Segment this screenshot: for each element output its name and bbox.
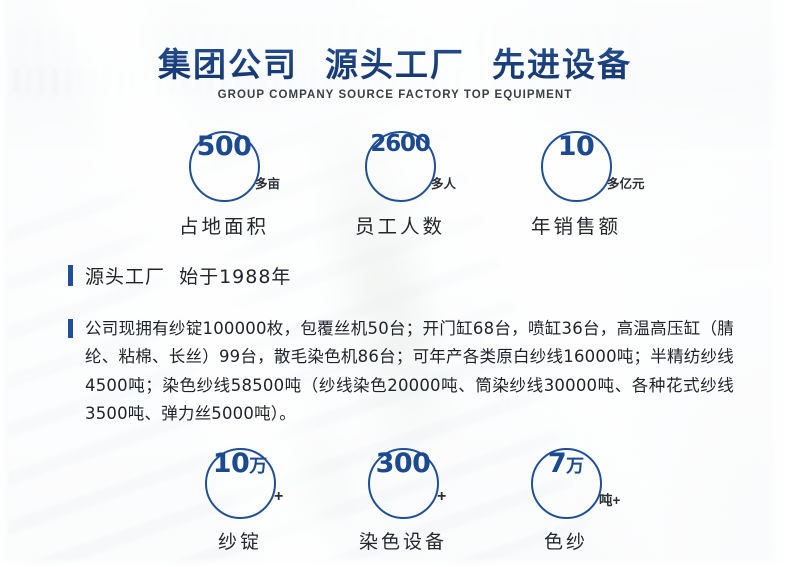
promo-page: 集团公司 源头工厂 先进设备 GROUP COMPANY SOURCE FACT… [0, 0, 790, 567]
stat-number: 10 [558, 133, 595, 160]
stat-number: 500 [197, 133, 252, 160]
stat-unit: 万 [566, 458, 584, 476]
stat-label: 纱锭 [176, 527, 304, 554]
stat-circle-wrap: 10 多亿元 [512, 126, 640, 206]
stat-circle-wrap: 500 多亩 [160, 126, 288, 206]
stat-circle-wrap: 300 + [339, 443, 467, 523]
stat-circle: 7万 [531, 448, 602, 519]
stat-item-dyeing-equipment: 300 + 染色设备 [339, 443, 467, 554]
stat-label: 年销售额 [512, 210, 640, 239]
stat-circle-wrap: 7万 吨+ [502, 443, 630, 523]
stats-row-top: 500 多亩 占地面积 2600 多人 员工人数 10 [0, 126, 790, 239]
stat-circle-wrap: 10万 + [176, 443, 304, 523]
stat-circle: 2600 [365, 131, 436, 202]
body-block: 公司现拥有纱锭100000枚，包覆丝机50台；开门缸68台，喷缸36台，高温高压… [68, 315, 734, 429]
stat-suffix: 多亩 [255, 173, 280, 192]
stats-row-bottom: 10万 + 纱锭 300 + 染色设备 7万 [0, 443, 790, 554]
body-paragraph: 公司现拥有纱锭100000枚，包覆丝机50台；开门缸68台，喷缸36台，高温高压… [85, 315, 734, 429]
stat-label: 员工人数 [336, 210, 464, 239]
stat-unit: 万 [249, 458, 267, 476]
page-content: 集团公司 源头工厂 先进设备 GROUP COMPANY SOURCE FACT… [0, 0, 790, 567]
section-heading: 源头工厂 始于1988年 [68, 262, 291, 289]
stat-item-annual-sales: 10 多亿元 年销售额 [512, 126, 640, 239]
stat-number: 7 [548, 450, 566, 477]
stat-item-employees: 2600 多人 员工人数 [336, 126, 464, 239]
stat-circle: 10万 [205, 448, 276, 519]
stat-suffix: 多人 [431, 173, 456, 192]
section-heading-text: 源头工厂 始于1988年 [85, 262, 291, 289]
stat-item-colored-yarn: 7万 吨+ 色纱 [502, 443, 630, 554]
blue-bar-icon [68, 319, 73, 338]
stat-number: 2600 [370, 133, 429, 156]
stat-suffix: + [437, 488, 446, 506]
blue-bar-icon [68, 265, 73, 286]
stat-suffix: 多亿元 [607, 173, 645, 192]
stat-circle-wrap: 2600 多人 [336, 126, 464, 206]
page-subtitle: GROUP COMPANY SOURCE FACTORY TOP EQUIPME… [0, 89, 790, 101]
stat-suffix: + [274, 488, 283, 506]
stat-circle: 300 [368, 448, 439, 519]
stat-number: 10 [213, 450, 250, 477]
stat-label: 占地面积 [160, 210, 288, 239]
page-title: 集团公司 源头工厂 先进设备 [0, 38, 790, 86]
stat-label: 色纱 [502, 527, 630, 554]
stat-item-spindles: 10万 + 纱锭 [176, 443, 304, 554]
stat-item-land-area: 500 多亩 占地面积 [160, 126, 288, 239]
stat-suffix: 吨+ [599, 489, 620, 509]
stat-circle: 500 [189, 131, 260, 202]
stat-number: 300 [376, 450, 431, 477]
stat-label: 染色设备 [339, 527, 467, 554]
stat-circle: 10 [541, 131, 612, 202]
